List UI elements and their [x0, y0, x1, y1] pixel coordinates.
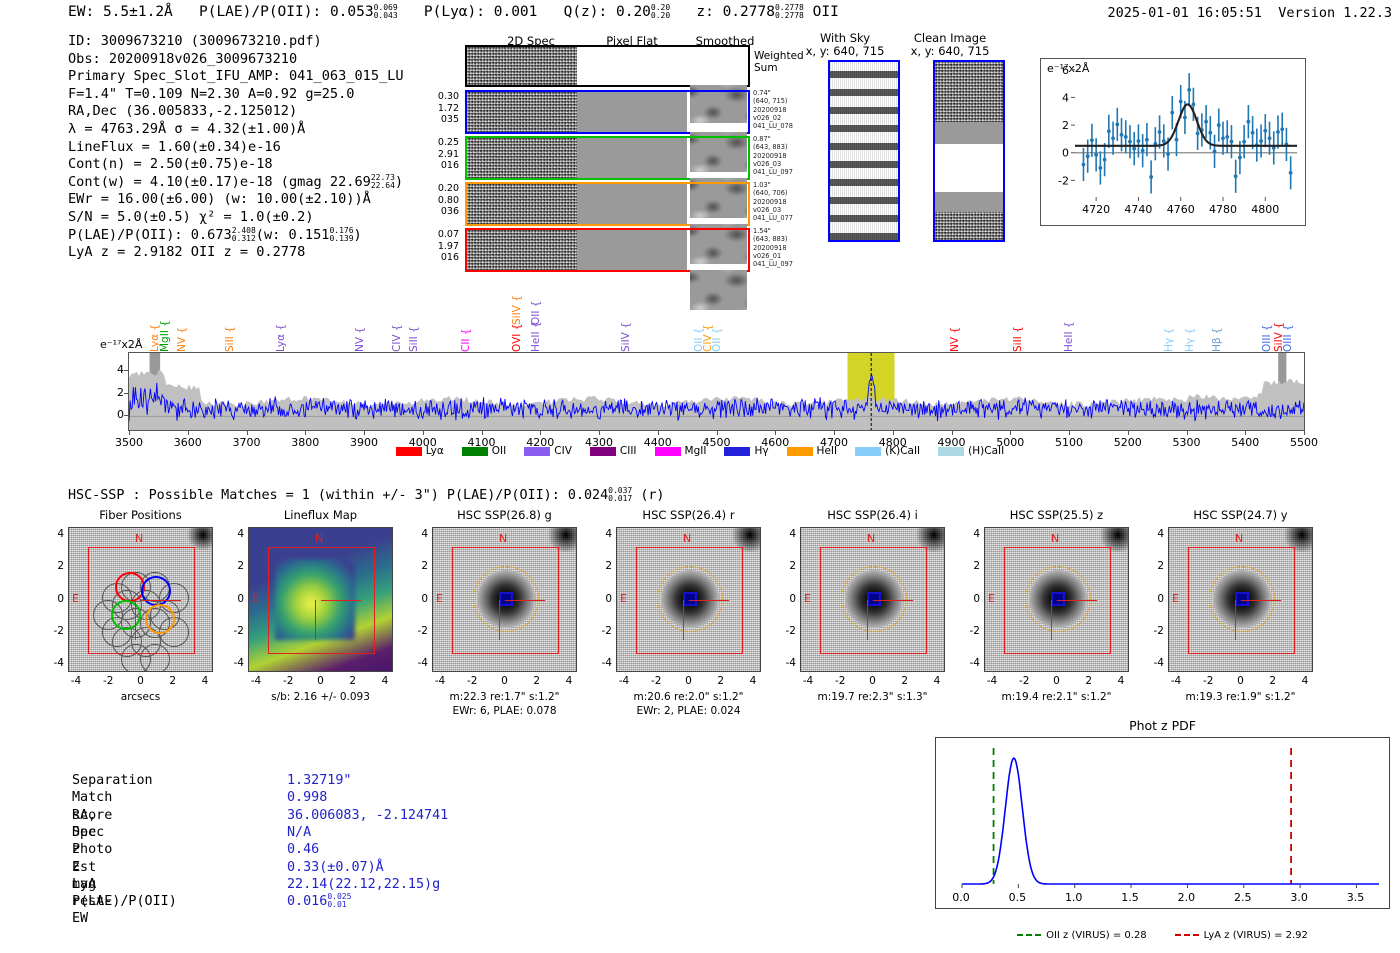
photz-legend-item: OII z (VIRUS) = 0.28 [1017, 930, 1147, 941]
cutout-x-tick: -2 [644, 675, 668, 687]
cutout-y-tick: 2 [1144, 560, 1164, 572]
crosshair-vertical [499, 600, 500, 640]
spectrum-x-tick-mark [775, 431, 776, 435]
spectrum-x-tick-mark [1304, 431, 1305, 435]
photz-x-tick: 1.0 [1054, 891, 1094, 904]
photz-legend-label: LyA z (VIRUS) = 2.92 [1204, 930, 1308, 941]
spectrum-x-tick-mark [834, 431, 835, 435]
legend-label: (K)CaII [885, 445, 920, 457]
info-radec: RA,Dec (36.005833,-2.125012) [68, 103, 404, 121]
fiber-meta-line: v026_03 [753, 206, 793, 214]
spectrum-y-tick-mark [124, 415, 128, 416]
cutout-y-tick: 2 [224, 560, 244, 572]
cutout-caption-2: EWr: 2, PLAE: 0.024 [588, 705, 789, 717]
spectrum-line-label: SiII { [224, 308, 236, 352]
hsc-headline: HSC-SSP : Possible Matches = 1 (within +… [68, 487, 665, 503]
clean-image [933, 60, 1005, 242]
photz-legend-swatch [1175, 934, 1199, 936]
spectrum-x-tick-mark [364, 431, 365, 435]
cutout-y-tick: 0 [408, 593, 428, 605]
z-label: z: [696, 4, 713, 20]
cutout-y-tick: -4 [408, 657, 428, 669]
cutout-y-tick: -2 [1144, 625, 1164, 637]
cutout-y-tick: -4 [1144, 657, 1164, 669]
cutout-panel-6[interactable]: NE [984, 527, 1129, 672]
spectrum-line-label: SiII { [408, 308, 420, 352]
spectrum-x-tick-mark [305, 431, 306, 435]
spec2d-image [467, 92, 577, 132]
fiber-meta-line: v026_01 [753, 252, 793, 260]
fiber-meta-line: (640, 706) [753, 189, 793, 197]
fiber-right-meta: 1.54"(643, 883)20200918v026_01041_LU_097 [753, 227, 793, 268]
spectrum-line-label: NV { [176, 308, 188, 352]
qz-label: Q(z): [564, 4, 608, 20]
cutout-y-tick: -4 [592, 657, 612, 669]
fiber-stat: 036 [425, 206, 459, 218]
spec2d-image-weighted [467, 47, 577, 85]
spec2d-weighted-sum-row [465, 45, 750, 87]
crosshair-horizontal [689, 600, 729, 601]
fiber-meta-line: 0.74" [753, 89, 793, 97]
cutout-panel-7[interactable]: NE [1168, 527, 1313, 672]
cutout-title: HSC SSP(26.4) i [778, 508, 967, 522]
cutout-y-tick: 4 [776, 528, 796, 540]
cutout-x-tick: 0 [861, 675, 885, 687]
cutout-x-tick: -4 [1164, 675, 1188, 687]
cutout-x-tick: 0 [129, 675, 153, 687]
crosshair-vertical [315, 600, 316, 640]
cutout-x-tick: 0 [1045, 675, 1069, 687]
cutout-x-tick: 0 [1229, 675, 1253, 687]
match-table-value: 0.33(±0.07)Å [287, 859, 384, 876]
legend-label: CIV [554, 445, 572, 457]
svg-text:4780: 4780 [1209, 203, 1237, 216]
cutout-x-tick: -2 [1196, 675, 1220, 687]
fiber-meta-line: 041_LU_078 [753, 122, 793, 130]
svg-text:4740: 4740 [1124, 203, 1152, 216]
photz-x-tick: 3.5 [1335, 891, 1375, 904]
spectrum-x-tick-mark [1187, 431, 1188, 435]
legend-swatch [462, 447, 488, 456]
timestamp-version: 2025-01-01 16:05:51 Version 1.22.3 [1108, 5, 1393, 21]
spectrum-line-label: MgII { [159, 308, 171, 352]
fiber-left-stats: 0.301.72035 [425, 91, 459, 126]
cutout-y-tick: -2 [44, 625, 64, 637]
svg-text:4760: 4760 [1167, 203, 1195, 216]
legend-swatch [938, 447, 964, 456]
fiber-stat: 0.80 [425, 195, 459, 207]
spectrum-x-tick-mark [658, 431, 659, 435]
fiber-stat: 0.30 [425, 91, 459, 103]
crosshair-horizontal [505, 600, 545, 601]
spectrum-line-label: OII { [711, 308, 723, 352]
source-info-block: ID: 3009673210 (3009673210.pdf) Obs: 202… [68, 33, 404, 262]
cutout-x-tick: 4 [373, 675, 397, 687]
cutout-y-tick: -4 [776, 657, 796, 669]
cutout-x-tick: -2 [96, 675, 120, 687]
pixelflat-image [577, 92, 687, 132]
cutout-y-tick: -2 [960, 625, 980, 637]
cutout-x-tick: 4 [193, 675, 217, 687]
info-ewr: EWr = 16.00(±6.00) (w: 10.00(±2.10))Å [68, 191, 404, 209]
legend-item: MgII [655, 445, 707, 457]
cutout-caption-2: EWr: 6, PLAE: 0.078 [404, 705, 605, 717]
legend-label: OII [492, 445, 506, 457]
crosshair-vertical [867, 600, 868, 640]
fiber-left-stats: 0.252.91016 [425, 137, 459, 172]
legend-label: Hγ [754, 445, 768, 457]
cutout-x-tick: 2 [161, 675, 185, 687]
cutout-x-tick: 2 [341, 675, 365, 687]
pixelflat-image [577, 184, 687, 224]
z-type: OII [813, 4, 839, 20]
legend-swatch [524, 447, 550, 456]
crosshair-vertical [683, 600, 684, 640]
info-id: ID: 3009673210 (3009673210.pdf) [68, 33, 404, 51]
cutout-y-tick: 2 [960, 560, 980, 572]
cutout-title: Lineflux Map [226, 508, 415, 522]
spectrum-line-label: Hγ { [1184, 308, 1196, 352]
cutout-title: Fiber Positions [46, 508, 235, 522]
cutout-x-tick: 0 [677, 675, 701, 687]
match-value-text: 1.32719" [287, 773, 352, 788]
plya-label: P(Lyα): [424, 4, 485, 20]
cutout-x-tick: 0 [493, 675, 517, 687]
cutout-x-tick: -2 [460, 675, 484, 687]
cutout-y-tick: 0 [592, 593, 612, 605]
fiber-meta-line: 20200918 [753, 106, 793, 114]
line-profile-svg: -2024647204740476047804800 [1041, 59, 1305, 225]
cutout-panel-3[interactable]: NE [432, 527, 577, 672]
info-lineflux: LineFlux = 1.60(±0.34)e-16 [68, 139, 404, 157]
spectrum-x-tick-mark [540, 431, 541, 435]
cutout-x-tick: 2 [525, 675, 549, 687]
cutout-y-tick: 4 [960, 528, 980, 540]
spectrum-line-label: Lyα { [275, 308, 287, 352]
compass-east: E [988, 592, 995, 605]
compass-east: E [252, 592, 259, 605]
info-redshifts: LyA z = 2.9182 OII z = 0.2778 [68, 244, 404, 262]
cutout-panel-5[interactable]: NE [800, 527, 945, 672]
version: Version 1.22.3 [1278, 5, 1392, 21]
info-lambda: λ = 4763.29Å σ = 4.32(±1.00)Å [68, 121, 404, 139]
clean-gap-1 [935, 122, 1003, 144]
spectrum-line-label: NV { [949, 308, 961, 352]
cutout-caption-1: s/b: 2.16 +/- 0.093 [220, 691, 421, 703]
fiber-stat: 0.07 [425, 229, 459, 241]
legend-swatch [590, 447, 616, 456]
photz-x-tick: 3.0 [1279, 891, 1319, 904]
cutout-y-tick: -2 [776, 625, 796, 637]
cutout-caption-1: m:22.3 re:1.7" s:1.2" [404, 691, 605, 703]
cutout-x-tick: 4 [741, 675, 765, 687]
cutout-panel-4[interactable]: NE [616, 527, 761, 672]
cutout-x-tick: -4 [796, 675, 820, 687]
match-table-value: 36.006083, -2.124741 [287, 807, 448, 824]
compass-north: N [315, 532, 323, 545]
legend-label: Lyα [426, 445, 444, 457]
compass-east: E [804, 592, 811, 605]
crosshair-vertical [1051, 600, 1052, 640]
fiber-stat: 016 [425, 160, 459, 172]
compass-north: N [135, 532, 143, 545]
compass-east: E [1172, 592, 1179, 605]
cutout-x-tick: 0 [309, 675, 333, 687]
pixelflat-image-weighted [577, 47, 687, 85]
spec2d-fiber-row [465, 228, 750, 272]
compass-north: N [683, 532, 691, 545]
crosshair-horizontal [1057, 600, 1097, 601]
crosshair-vertical [1235, 600, 1236, 640]
spectrum-line-label: OIII { [1282, 308, 1294, 352]
crosshair-vertical [135, 600, 136, 640]
cutout-y-tick: 0 [776, 593, 796, 605]
cutout-caption-1: m:20.6 re:2.0" s:1.2" [588, 691, 789, 703]
photz-plot [935, 737, 1390, 909]
spectrum-x-tick-mark [247, 431, 248, 435]
fiber-meta-line: 041_LU_097 [753, 260, 793, 268]
info-cont-n: Cont(n) = 2.50(±0.75)e-18 [68, 156, 404, 174]
cutout-x-tick: 2 [1077, 675, 1101, 687]
fiber-right-meta: 0.74"(640, 715)20200918v026_02041_LU_078 [753, 89, 793, 130]
compass-north: N [867, 532, 875, 545]
legend-item: CIII [590, 445, 637, 457]
spectrum-line-label: CII { [460, 308, 472, 352]
cutout-y-tick: 0 [44, 593, 64, 605]
match-table-key: P(LAE)/P(OII) [72, 893, 177, 910]
match-table-value: 0.998 [287, 789, 327, 806]
spectrum-x-tick-mark [1245, 431, 1246, 435]
cutout-x-tick: -2 [276, 675, 300, 687]
fiber-stat: 0.20 [425, 183, 459, 195]
photz-title: Phot z PDF [935, 718, 1390, 733]
cutout-y-tick: 2 [408, 560, 428, 572]
fiber-meta-line: 0.87" [753, 135, 793, 143]
cutout-x-tick: 4 [1109, 675, 1133, 687]
photz-legend-item: LyA z (VIRUS) = 2.92 [1175, 930, 1308, 941]
clean-gap-2 [935, 192, 1003, 212]
legend-label: MgII [685, 445, 707, 457]
spectrum-x-tick-mark [893, 431, 894, 435]
spec2d-fiber-row [465, 90, 750, 134]
cutout-caption-1: m:19.4 re:2.1" s:1.2" [956, 691, 1157, 703]
spectrum-line-label: CIV { [391, 308, 403, 352]
spectrum-line-label: SiIV { [620, 308, 632, 352]
spectrum-y-tick: 2 [108, 386, 124, 399]
plae-value: 0.053 [330, 4, 374, 20]
match-table-key: mag [72, 876, 96, 893]
legend-item: OII [462, 445, 506, 457]
qz-lo: 0.20 [651, 11, 670, 20]
svg-text:0: 0 [1062, 147, 1069, 160]
cutout-title: HSC SSP(26.8) g [410, 508, 599, 522]
cutout-y-tick: 0 [960, 593, 980, 605]
spectrum-y-tick-mark [124, 393, 128, 394]
photz-x-tick: 1.5 [1110, 891, 1150, 904]
cutout-caption-1: m:19.3 re:1.9" s:1.2" [1140, 691, 1341, 703]
fiber-right-meta: 0.87"(643, 883)20200918v026_03041_LU_097 [753, 135, 793, 176]
spectrum-y-tick: 4 [108, 363, 124, 376]
fiber-stat: 016 [425, 252, 459, 264]
spectrum-x-tick-mark [482, 431, 483, 435]
header-summary-line: EW: 5.5±1.2Å P(LAE)/P(OII): 0.0530.0690.… [68, 4, 839, 20]
svg-text:4720: 4720 [1082, 203, 1110, 216]
spectrum-y-tick: 0 [108, 408, 124, 421]
cutout-x-tick: 2 [893, 675, 917, 687]
info-sn: S/N = 5.0(±0.5) χ² = 1.0(±0.2) [68, 209, 404, 227]
spectrum-x-tick-mark [1010, 431, 1011, 435]
fiber-meta-line: (640, 715) [753, 97, 793, 105]
clean-noise-top [935, 62, 1003, 122]
compass-north: N [1235, 532, 1243, 545]
svg-text:6: 6 [1062, 64, 1069, 77]
cutout-y-tick: 2 [44, 560, 64, 572]
match-value-text: 36.006083, -2.124741 [287, 808, 448, 823]
pixelflat-image [577, 138, 687, 178]
cutout-x-tick: -2 [828, 675, 852, 687]
cutout-panel-2[interactable]: NE [248, 527, 393, 672]
cutout-x-tick: 4 [925, 675, 949, 687]
cutout-x-tick: 2 [1261, 675, 1285, 687]
legend-swatch [855, 447, 881, 456]
spectrum-line-label: SiIV { [511, 281, 523, 325]
spectrum-x-tick-mark [1128, 431, 1129, 435]
photz-legend: OII z (VIRUS) = 0.28LyA z (VIRUS) = 2.92 [935, 930, 1390, 941]
fiber-meta-line: 20200918 [753, 152, 793, 160]
legend-label: CIII [620, 445, 637, 457]
timestamp: 2025-01-01 16:05:51 [1108, 5, 1262, 21]
spec2d-image [467, 184, 577, 224]
cutout-caption-1: m:19.7 re:2.3" s:1.3" [772, 691, 973, 703]
svg-text:-2: -2 [1058, 174, 1069, 187]
ew-label: EW: [68, 4, 94, 20]
cutout-x-tick: -4 [980, 675, 1004, 687]
fiber-meta-line: v026_03 [753, 160, 793, 168]
spectrum-line-label: Hβ { [1211, 308, 1223, 352]
full-spectrum-svg [129, 353, 1304, 430]
photz-x-tick: 2.0 [1166, 891, 1206, 904]
match-value-text: 0.998 [287, 790, 327, 805]
fiber-meta-line: 1.03" [753, 181, 793, 189]
cutout-title: HSC SSP(24.7) y [1146, 508, 1335, 522]
legend-swatch [396, 447, 422, 456]
match-value-range: 0.0250.01 [327, 893, 351, 909]
fiber-meta-line: 1.54" [753, 227, 793, 235]
spectrum-x-tick-mark [188, 431, 189, 435]
spec2d-image [467, 230, 577, 270]
legend-item: (K)CaII [855, 445, 920, 457]
legend-item: (H)CaII [938, 445, 1004, 457]
spectrum-line-label: OII { [530, 281, 542, 325]
cutout-x-tick: -4 [428, 675, 452, 687]
photz-x-tick: 0.0 [941, 891, 981, 904]
spectrum-units-label: e⁻¹⁷x2Å [100, 338, 142, 351]
spectrum-line-label: Hγ { [1163, 308, 1175, 352]
match-value-text: 0.016 [287, 894, 327, 909]
clean-image-title: Clean Image x, y: 640, 715 [895, 32, 1005, 58]
legend-swatch [655, 447, 681, 456]
cutout-x-tick: -4 [64, 675, 88, 687]
range-lo: 0.01 [327, 900, 346, 909]
z-value: 0.2778 [723, 4, 775, 20]
match-table-value: N/A [287, 824, 311, 841]
fiber-meta-line: 041_LU_077 [753, 214, 793, 222]
compass-east: E [620, 592, 627, 605]
cutout-x-tick: 4 [1293, 675, 1317, 687]
match-table-value: 0.46 [287, 841, 319, 858]
svg-text:4: 4 [1062, 91, 1069, 104]
spectrum-x-tick-mark [1069, 431, 1070, 435]
cutout-y-tick: 4 [1144, 528, 1164, 540]
spectrum-line-label: NV { [354, 308, 366, 352]
cutout-y-tick: -4 [960, 657, 980, 669]
crosshair-horizontal [1241, 600, 1281, 601]
legend-item: Hγ [724, 445, 768, 457]
legend-swatch [787, 447, 813, 456]
cutout-y-tick: 4 [44, 528, 64, 540]
fiber-meta-line: 20200918 [753, 244, 793, 252]
crosshair-horizontal [873, 600, 913, 601]
with-sky-title: With Sky x, y: 640, 715 [790, 32, 900, 58]
legend-swatch [724, 447, 750, 456]
compass-north: N [1051, 532, 1059, 545]
cutout-y-tick: 0 [1144, 593, 1164, 605]
line-profile-plot: e⁻¹⁷x2Å -2024647204740476047804800 [1040, 58, 1306, 226]
match-value-text: 0.46 [287, 842, 319, 857]
fiber-meta-line: (643, 883) [753, 143, 793, 151]
cutout-x-tick: -4 [612, 675, 636, 687]
cutout-y-tick: 4 [592, 528, 612, 540]
plya-value: 0.001 [494, 4, 538, 20]
legend-item: CIV [524, 445, 572, 457]
z-lo: 0.2778 [775, 11, 804, 20]
match-value-text: 22.14(22.12,22.15)g [287, 877, 440, 892]
spectrum-y-tick-mark [124, 370, 128, 371]
fiber-right-meta: 1.03"(640, 706)20200918v026_03041_LU_077 [753, 181, 793, 222]
cutout-y-tick: 2 [592, 560, 612, 572]
photz-legend-label: OII z (VIRUS) = 0.28 [1046, 930, 1147, 941]
fiber-left-stats: 0.200.80036 [425, 183, 459, 218]
plae-lo: 0.043 [374, 11, 398, 20]
spectrum-x-tick-mark [129, 431, 130, 435]
qz-value: 0.20 [616, 4, 651, 20]
crosshair-horizontal [321, 600, 361, 601]
legend-item: Lyα [396, 445, 444, 457]
spectrum-x-tick-mark [717, 431, 718, 435]
compass-east: E [72, 592, 79, 605]
cutout-y-tick: 2 [776, 560, 796, 572]
cutout-title: HSC SSP(25.5) z [962, 508, 1151, 522]
cutout-y-tick: -2 [408, 625, 428, 637]
svg-text:4800: 4800 [1251, 203, 1279, 216]
spectrum-legend: LyαOIICIVCIIIMgIIHγHeII(K)CaII(H)CaII [0, 445, 1400, 457]
spec2d-fiber-row [465, 136, 750, 180]
svg-text:2: 2 [1062, 119, 1069, 132]
cutout-panel-1[interactable]: NE [68, 527, 213, 672]
match-value-text: N/A [287, 825, 311, 840]
fiber-stat: 035 [425, 114, 459, 126]
cutout-x-tick: -4 [244, 675, 268, 687]
cutout-y-tick: -4 [224, 657, 244, 669]
photz-svg [936, 738, 1389, 908]
plae-label: P(LAE)/P(OII): [199, 4, 321, 20]
spectrum-line-label: OIII { [1261, 308, 1273, 352]
spectrum-x-tick-mark [952, 431, 953, 435]
match-table-value: 22.14(22.12,22.15)g [287, 876, 440, 893]
with-sky-image [828, 60, 900, 242]
smoothed-image [690, 270, 747, 310]
fiber-left-stats: 0.071.97016 [425, 229, 459, 264]
